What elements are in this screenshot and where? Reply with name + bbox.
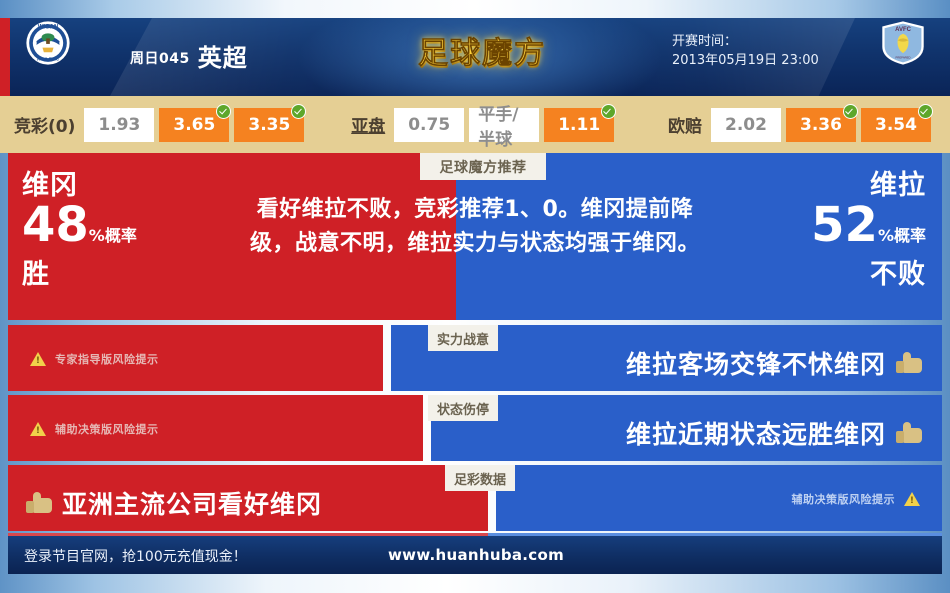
- odds-group-oupei: 欧赔 2.02 3.36 3.54: [668, 108, 936, 142]
- thumbs-up-icon: [896, 352, 922, 374]
- risk-warning-text: 辅助决策版风险提示: [792, 491, 896, 507]
- odds-value: 3.35: [248, 115, 290, 135]
- away-outcome: 不败: [811, 260, 926, 290]
- info-row: 实力战意 专家指导版风险提示 维拉客场交锋不怵维冈: [8, 325, 942, 391]
- check-icon: [216, 104, 231, 119]
- check-icon: [843, 104, 858, 119]
- info-row: 状态伤停 辅助决策版风险提示 维拉近期状态远胜维冈: [8, 395, 942, 461]
- odds-cell[interactable]: 3.54: [861, 108, 931, 142]
- odds-group-label: 竞彩(0): [14, 112, 75, 137]
- row-tab-label: 实力战意: [428, 325, 498, 351]
- kickoff-info: 开赛时间： 2013年05月19日 23:00: [672, 32, 819, 70]
- info-row: 足彩数据 亚洲主流公司看好维冈 辅助决策版风险提示: [8, 465, 942, 531]
- footer-promo-text: 登录节目官网，抢100元充值现金！: [24, 546, 247, 566]
- percent-symbol: %: [89, 226, 105, 245]
- odds-cell[interactable]: 0.75: [394, 108, 464, 142]
- risk-warning-text: 辅助决策版风险提示: [55, 421, 159, 437]
- row-headline: 维拉客场交锋不怵维冈: [626, 345, 922, 381]
- odds-value: 3.65: [173, 115, 215, 135]
- home-percent-row: 48%概率: [22, 201, 137, 260]
- percent-word: 概率: [105, 226, 137, 245]
- odds-cell[interactable]: 1.11: [544, 108, 614, 142]
- row-tab-label: 足彩数据: [445, 465, 515, 491]
- svg-text:AVFC: AVFC: [895, 27, 911, 33]
- row-headline-text: 亚洲主流公司看好维冈: [62, 485, 322, 521]
- check-icon: [291, 104, 306, 119]
- odds-cell[interactable]: 1.93: [84, 108, 154, 142]
- odds-group-label: 欧赔: [668, 112, 702, 137]
- odds-cell[interactable]: 平手/半球: [469, 108, 539, 142]
- svg-text:PREPARED: PREPARED: [896, 56, 911, 60]
- thumbs-up-icon: [896, 422, 922, 444]
- warning-icon: [30, 352, 46, 366]
- risk-warning: 专家指导版风险提示: [30, 351, 159, 367]
- warning-icon: [30, 422, 46, 436]
- home-outcome: 胜: [22, 260, 137, 290]
- background-sky-strip: [0, 0, 950, 18]
- odds-cell[interactable]: 3.36: [786, 108, 856, 142]
- home-percent-value: 48: [22, 197, 89, 253]
- footer-url[interactable]: www.huanhuba.com: [388, 546, 564, 564]
- odds-cell[interactable]: 3.65: [159, 108, 229, 142]
- away-percent-value: 52: [811, 197, 878, 253]
- odds-group-label: 亚盘: [351, 112, 385, 137]
- row-tab-label: 状态伤停: [428, 395, 498, 421]
- league-name: 英超: [198, 44, 248, 72]
- match-number: 周日045: [130, 51, 190, 67]
- recommendation-text: 看好维拉不败，竞彩推荐1、0。维冈提前降级，战意不明，维拉实力与状态均强于维冈。: [240, 193, 710, 261]
- row-headline-text: 维拉客场交锋不怵维冈: [626, 345, 886, 381]
- footer-bar: 登录节目官网，抢100元充值现金！ www.huanhuba.com: [8, 536, 942, 574]
- odds-value: 1.11: [558, 115, 600, 135]
- away-team-crest-icon: AVFC PREPARED: [880, 20, 926, 66]
- percent-word: 概率: [894, 226, 926, 245]
- kickoff-time: 2013年05月19日 23:00: [672, 51, 819, 70]
- check-icon: [601, 104, 616, 119]
- odds-cell[interactable]: 2.02: [711, 108, 781, 142]
- broadcast-graphic: WIGAN ATHLETIC AVFC PREPARED 周日045英超 足球魔…: [0, 0, 950, 593]
- recommendation-tab-label: 足球魔方推荐: [420, 153, 546, 180]
- check-icon: [918, 104, 933, 119]
- risk-warning: 辅助决策版风险提示: [792, 491, 921, 507]
- risk-warning-text: 专家指导版风险提示: [55, 351, 159, 367]
- away-probability: 维拉 52%概率 不败: [811, 171, 926, 290]
- brand-logo: 足球魔方: [418, 28, 546, 72]
- prediction-panel: 维冈 48%概率 胜 维拉 52%概率 不败 足球魔方推荐 看好维拉不败，竞彩推…: [8, 153, 942, 320]
- away-percent-row: 52%概率: [811, 201, 926, 260]
- risk-warning: 辅助决策版风险提示: [30, 421, 159, 437]
- odds-bar: 竞彩(0) 1.93 3.65 3.35 亚盘 0.75 平手/半球 1.11 …: [0, 96, 950, 153]
- svg-text:WIGAN: WIGAN: [38, 24, 59, 30]
- kickoff-label: 开赛时间：: [672, 32, 819, 51]
- home-team-crest-icon: WIGAN ATHLETIC: [25, 20, 71, 66]
- odds-group-yapan: 亚盘 0.75 平手/半球 1.11: [351, 108, 619, 142]
- home-probability: 维冈 48%概率 胜: [22, 171, 137, 290]
- red-accent-bar: [0, 18, 10, 96]
- row-headline: 维拉近期状态远胜维冈: [626, 415, 922, 451]
- odds-value: 3.54: [875, 115, 917, 135]
- match-title: 周日045英超: [130, 38, 248, 73]
- odds-group-jingcai: 竞彩(0) 1.93 3.65 3.35: [14, 108, 309, 142]
- odds-value: 3.36: [800, 115, 842, 135]
- percent-symbol: %: [878, 226, 894, 245]
- svg-text:ATHLETIC: ATHLETIC: [37, 56, 60, 61]
- thumbs-up-icon: [26, 492, 52, 514]
- row-headline: 亚洲主流公司看好维冈: [26, 485, 322, 521]
- odds-cell[interactable]: 3.35: [234, 108, 304, 142]
- row-headline-text: 维拉近期状态远胜维冈: [626, 415, 886, 451]
- warning-icon: [904, 492, 920, 506]
